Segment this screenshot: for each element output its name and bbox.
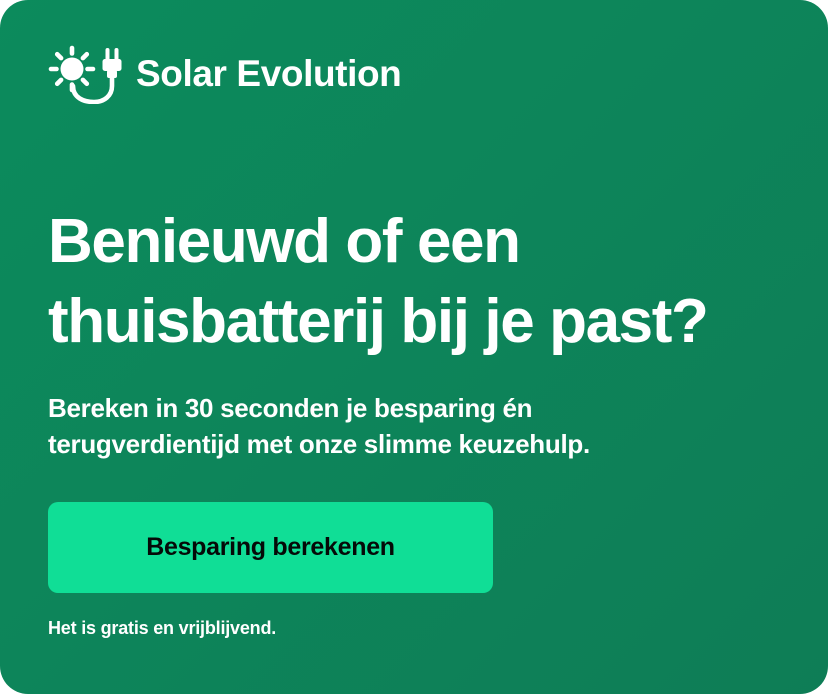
subheading-line-2: terugverdientijd met onze slimme keuzehu… — [48, 426, 808, 462]
brand-name: Solar Evolution — [136, 55, 401, 92]
page-title: Benieuwd of een thuisbatterij bij je pas… — [48, 202, 808, 362]
subheading-line-1: Bereken in 30 seconden je besparing én — [48, 390, 808, 426]
calculate-savings-button[interactable]: Besparing berekenen — [48, 502, 493, 593]
brand-logo: Solar Evolution — [48, 42, 401, 104]
subheading: Bereken in 30 seconden je besparing én t… — [48, 390, 808, 462]
footnote-text: Het is gratis en vrijblijvend. — [48, 618, 276, 640]
headline-line-1: Benieuwd of een — [48, 202, 808, 282]
sun-plug-icon — [48, 42, 122, 104]
headline-line-2: thuisbatterij bij je past? — [48, 282, 808, 362]
promo-card: Solar Evolution Benieuwd of een thuisbat… — [0, 0, 828, 694]
